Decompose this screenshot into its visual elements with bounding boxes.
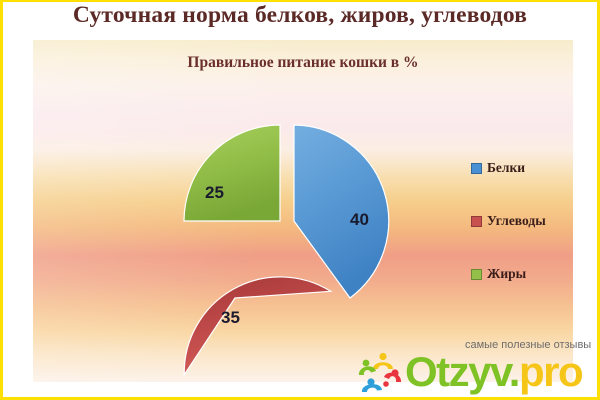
slice-value-uglevody: 35 <box>221 308 240 328</box>
slice-value-belki: 40 <box>350 210 369 230</box>
legend-label-belki: Белки <box>487 160 525 176</box>
pie-slice-uglevody[interactable] <box>178 273 336 374</box>
watermark: самые полезные отзывы Otzyv.pro <box>355 336 600 398</box>
brand-name-tld: pro <box>519 348 582 395</box>
otzyv-people-logo-icon <box>357 351 405 395</box>
legend-item-zhiry[interactable]: Жиры <box>471 266 526 282</box>
legend-label-uglevody: Углеводы <box>487 213 546 229</box>
chart-subtitle: Правильное питание кошки в % <box>33 54 573 72</box>
brand-name-dot: . <box>509 348 519 395</box>
slice-value-zhiry: 25 <box>205 183 224 203</box>
frame-edge-left <box>0 0 3 400</box>
chart-panel: Правильное питание кошки в % <box>33 40 573 382</box>
brand-name-main: Otzyv <box>405 348 509 395</box>
legend-item-uglevody[interactable]: Углеводы <box>471 213 546 229</box>
legend-swatch-zhiry <box>471 269 482 280</box>
legend-swatch-belki <box>471 163 482 174</box>
screenshot-root: Суточная норма белков, жиров, углеводов … <box>0 0 600 400</box>
pie-slice-belki[interactable] <box>294 125 389 298</box>
legend-item-belki[interactable]: Белки <box>471 160 525 176</box>
otzyv-wordmark: Otzyv.pro <box>405 348 582 396</box>
page-title: Суточная норма белков, жиров, углеводов <box>0 2 600 29</box>
frame-edge-top <box>0 0 600 2</box>
legend-swatch-uglevody <box>471 216 482 227</box>
legend-label-zhiry: Жиры <box>487 266 526 282</box>
pie-chart <box>33 40 573 382</box>
pie-slice-zhiry[interactable] <box>184 125 280 221</box>
